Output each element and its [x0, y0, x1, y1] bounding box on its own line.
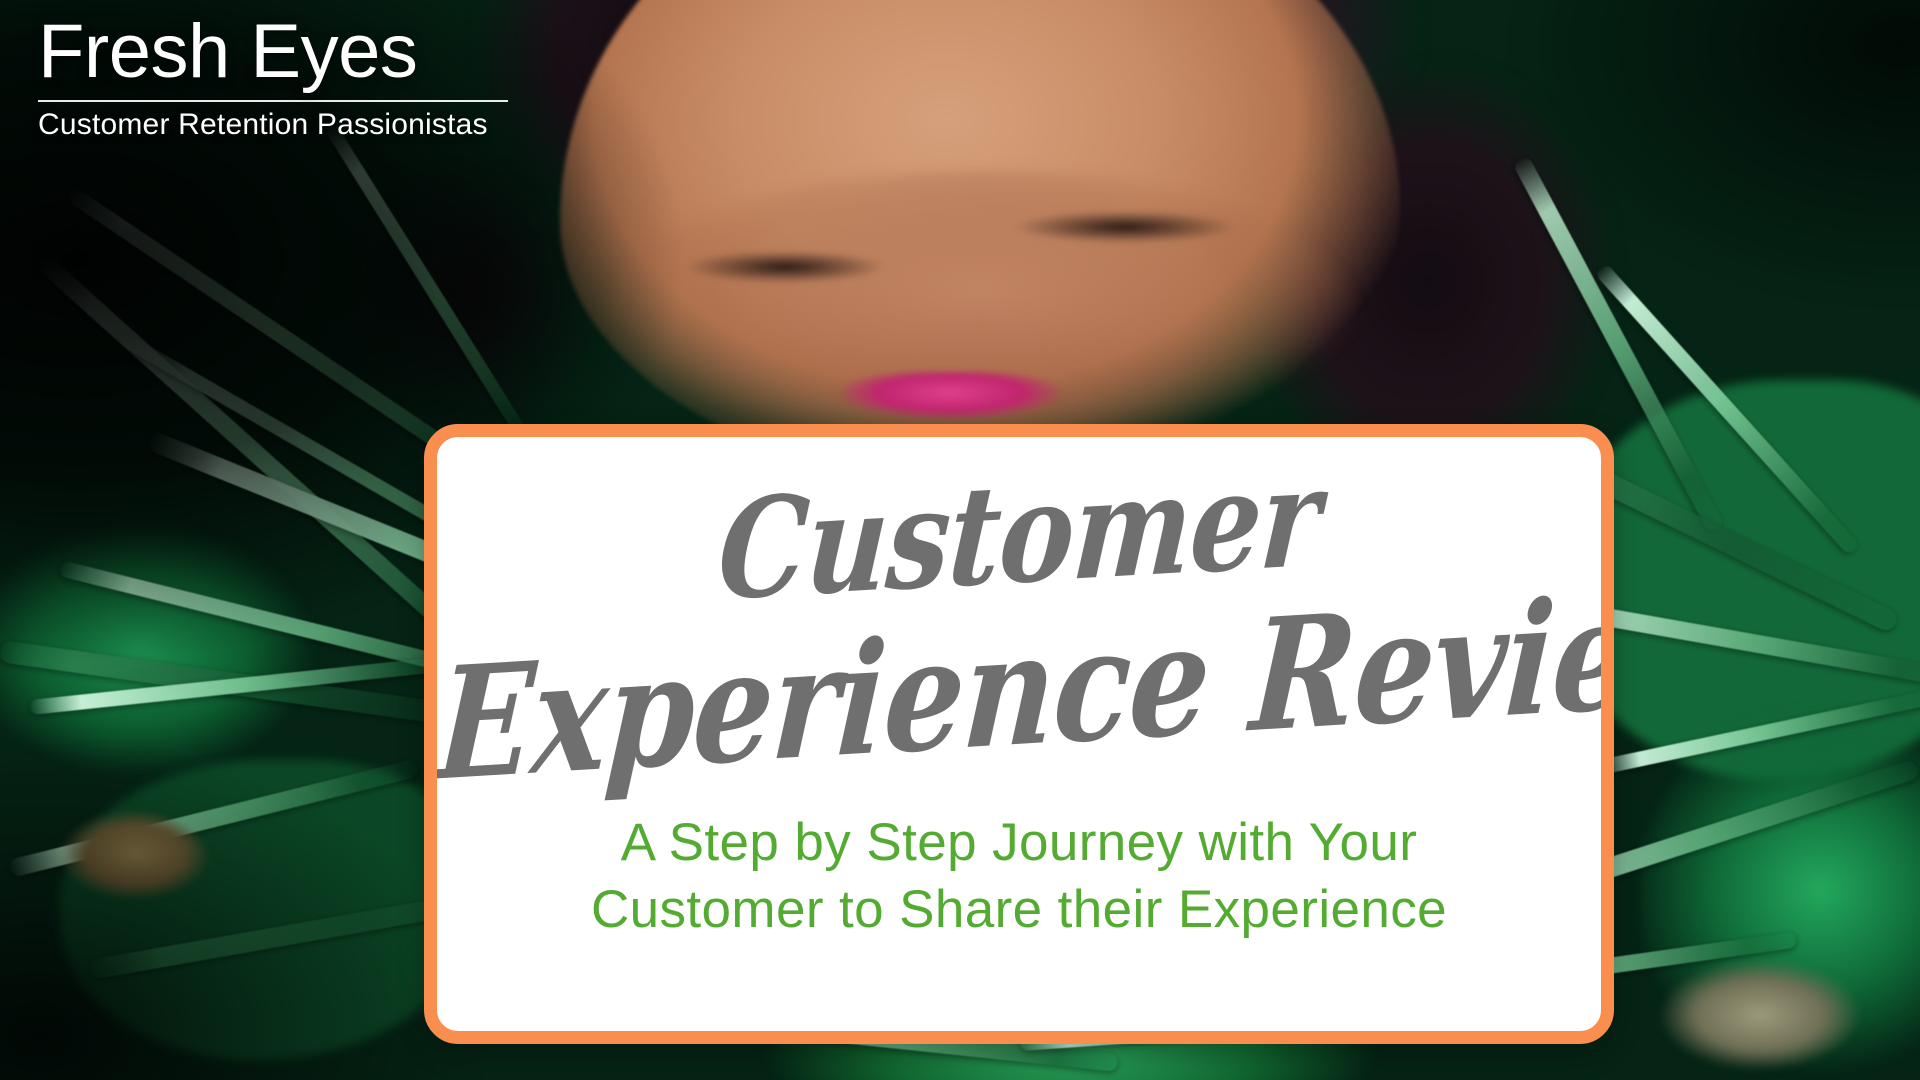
subtitle-line-1: A Step by Step Journey with Your [467, 809, 1571, 876]
slide-canvas: Fresh Eyes Customer Retention Passionist… [0, 0, 1920, 1080]
headline-block: Customer Experience Review [437, 437, 1601, 753]
subtitle-line-2: Customer to Share their Experience [467, 876, 1571, 943]
title-card: Customer Experience Review A Step by Ste… [424, 424, 1614, 1044]
brand-name: Fresh Eyes [38, 14, 558, 90]
brand-logo: Fresh Eyes Customer Retention Passionist… [38, 14, 558, 143]
brand-tagline: Customer Retention Passionistas [38, 108, 558, 143]
brand-divider-rule [38, 100, 508, 102]
subtitle-block: A Step by Step Journey with Your Custome… [437, 809, 1601, 944]
